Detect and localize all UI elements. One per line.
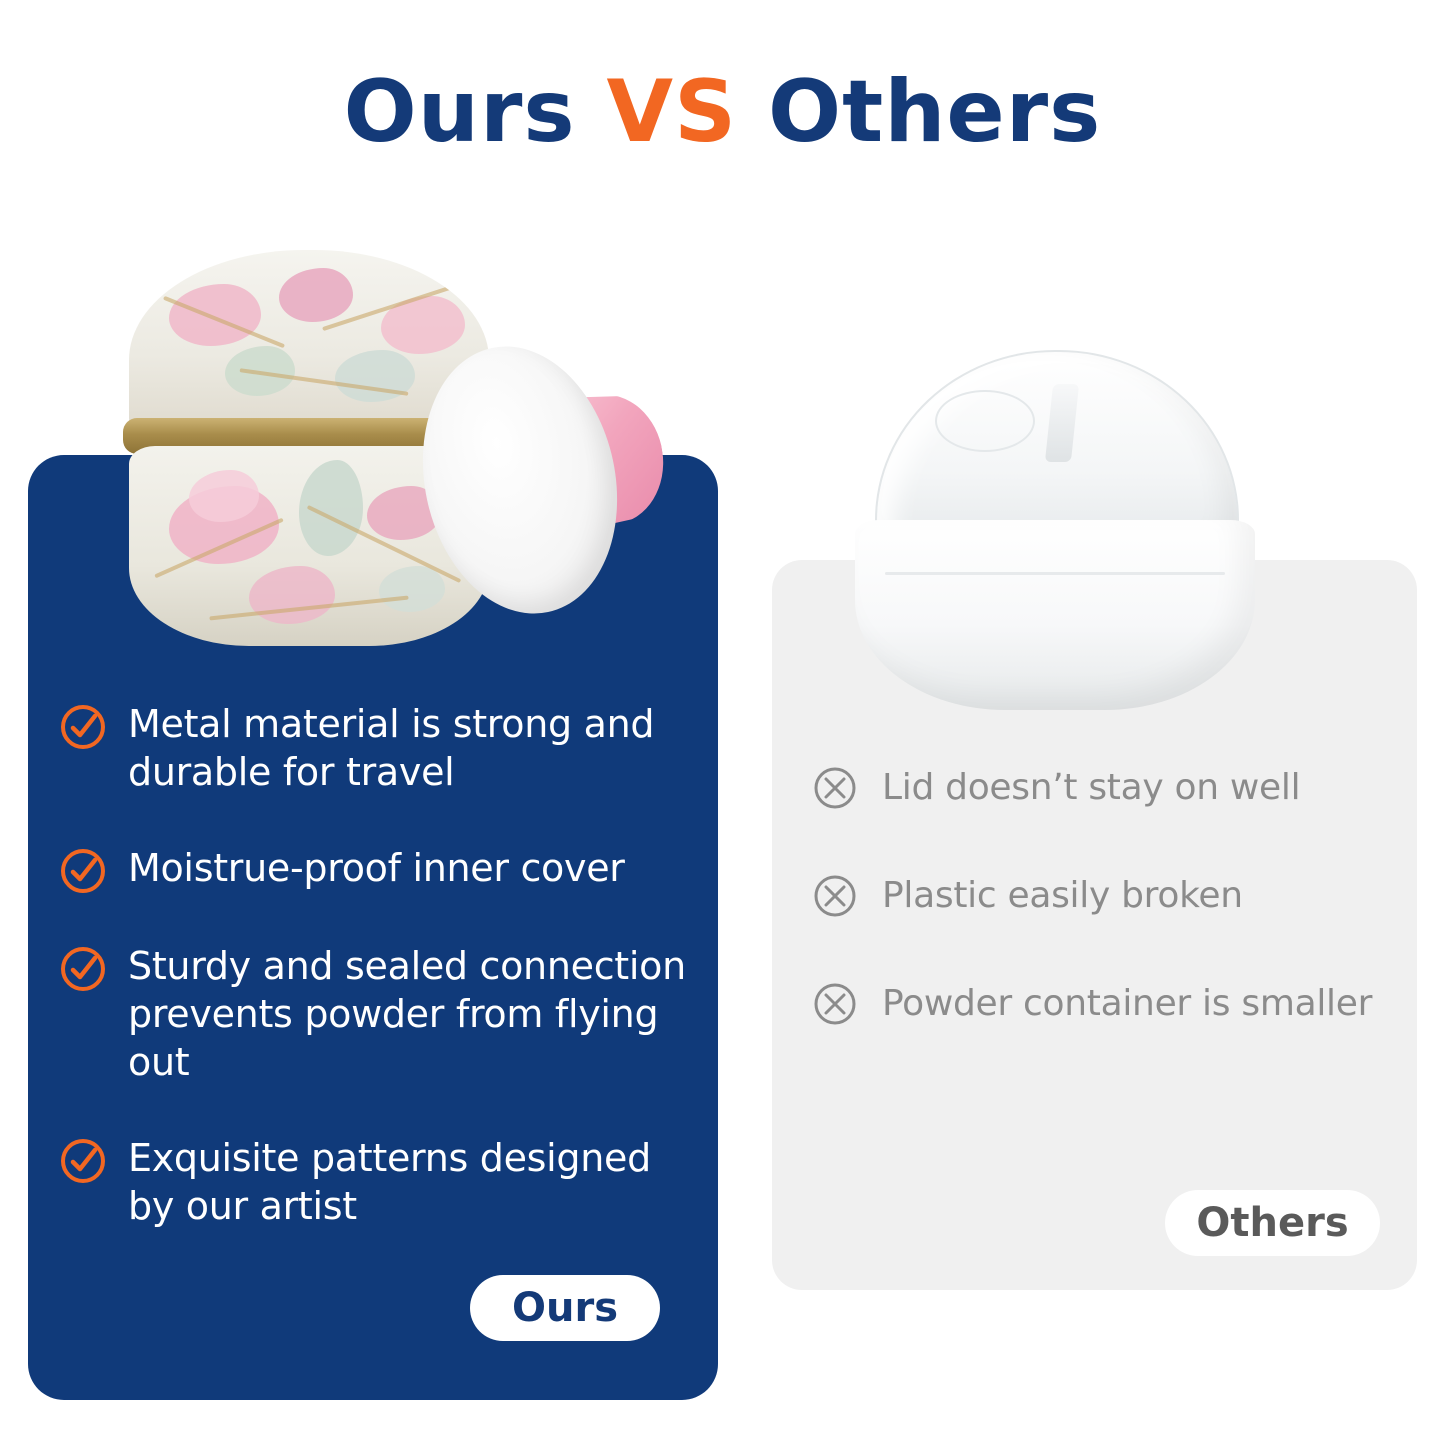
others-feature-list: Lid doesn’t stay on well Plastic easily …	[812, 765, 1412, 1089]
check-circle-icon	[60, 946, 106, 992]
check-circle-icon	[60, 704, 106, 750]
feature-text: Plastic easily broken	[882, 874, 1243, 918]
plastic-base	[855, 520, 1255, 710]
x-circle-icon	[812, 873, 858, 919]
base-seam-line	[885, 572, 1225, 575]
dome-ring-detail	[935, 390, 1035, 452]
list-item: Plastic easily broken	[812, 873, 1412, 919]
list-item: Powder container is smaller	[812, 981, 1412, 1027]
title-vs: VS	[607, 62, 738, 162]
list-item: Metal material is strong and durable for…	[60, 700, 700, 796]
puff-pad	[399, 328, 641, 632]
feature-text: Moistrue-proof inner cover	[128, 844, 625, 892]
page-title: Ours VS Others	[0, 62, 1445, 162]
feature-text: Sturdy and sealed connection prevents po…	[128, 942, 700, 1086]
others-badge: Others	[1165, 1190, 1380, 1256]
ours-badge: Ours	[470, 1275, 660, 1341]
feature-text: Lid doesn’t stay on well	[882, 766, 1300, 810]
list-item: Exquisite patterns designed by our artis…	[60, 1134, 700, 1230]
list-item: Sturdy and sealed connection prevents po…	[60, 942, 700, 1086]
x-circle-icon	[812, 765, 858, 811]
ours-feature-list: Metal material is strong and durable for…	[60, 700, 700, 1278]
ours-product-image	[95, 240, 715, 680]
feature-text: Metal material is strong and durable for…	[128, 700, 700, 796]
powder-puff	[425, 335, 655, 625]
title-ours: Ours	[344, 62, 607, 162]
feature-text: Powder container is smaller	[882, 982, 1372, 1026]
feature-text: Exquisite patterns designed by our artis…	[128, 1134, 700, 1230]
list-item: Moistrue-proof inner cover	[60, 844, 700, 894]
title-others: Others	[737, 62, 1101, 162]
check-circle-icon	[60, 1138, 106, 1184]
check-circle-icon	[60, 848, 106, 894]
dome-tab-detail	[1045, 384, 1079, 462]
others-product-image	[845, 350, 1265, 720]
list-item: Lid doesn’t stay on well	[812, 765, 1412, 811]
x-circle-icon	[812, 981, 858, 1027]
